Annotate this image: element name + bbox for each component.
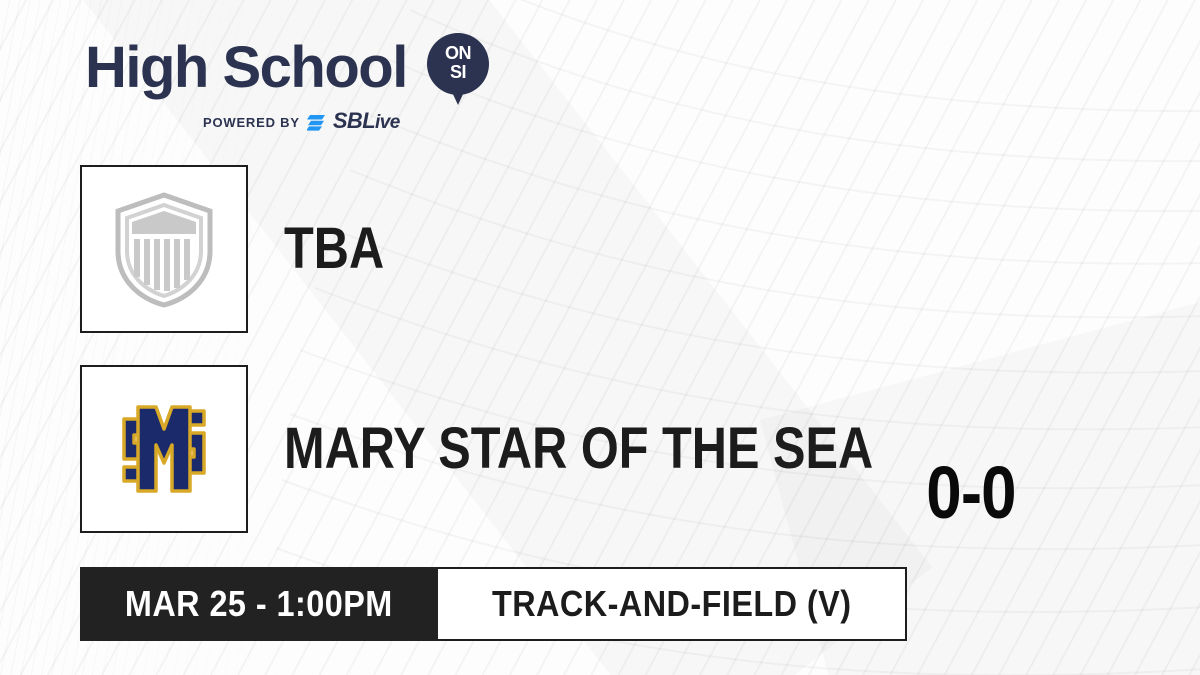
team-row: MARY STAR OF THE SEA (80, 365, 985, 533)
team-row: TBA (80, 165, 403, 333)
sblive-bold-part: SBL (333, 108, 375, 133)
on-si-pin-icon: ON SI (427, 33, 489, 109)
powered-by-row: POWERED BY SBLive (203, 110, 400, 134)
pin-label-on: ON (427, 44, 489, 63)
generic-shield-crest-icon (109, 189, 219, 309)
score-display: 0-0 (915, 456, 1027, 530)
team-name: TBA (284, 220, 384, 278)
game-datetime-label: MAR 25 - 1:00PM (125, 583, 393, 625)
powered-by-label: POWERED BY (203, 115, 300, 130)
sblive-light-part: ive (375, 112, 400, 133)
team-name: MARY STAR OF THE SEA (284, 420, 873, 478)
brand-logo: High School ON SI POWERED BY SBLive (85, 36, 515, 136)
team-logo-card (80, 365, 248, 533)
sblive-s-mark-icon (307, 114, 326, 131)
game-info-bar: MAR 25 - 1:00PM TRACK-AND-FIELD (V) (80, 567, 907, 641)
team-logo-card (80, 165, 248, 333)
game-sport-block: TRACK-AND-FIELD (V) (438, 567, 907, 641)
game-datetime-block: MAR 25 - 1:00PM (80, 567, 438, 641)
matchup-graphic: High School ON SI POWERED BY SBLive (0, 0, 1200, 675)
pin-label-si: SI (427, 63, 489, 82)
mary-star-ms-monogram-icon (104, 389, 224, 509)
sblive-wordmark: SBLive (333, 110, 400, 134)
game-sport-label: TRACK-AND-FIELD (V) (492, 583, 851, 625)
